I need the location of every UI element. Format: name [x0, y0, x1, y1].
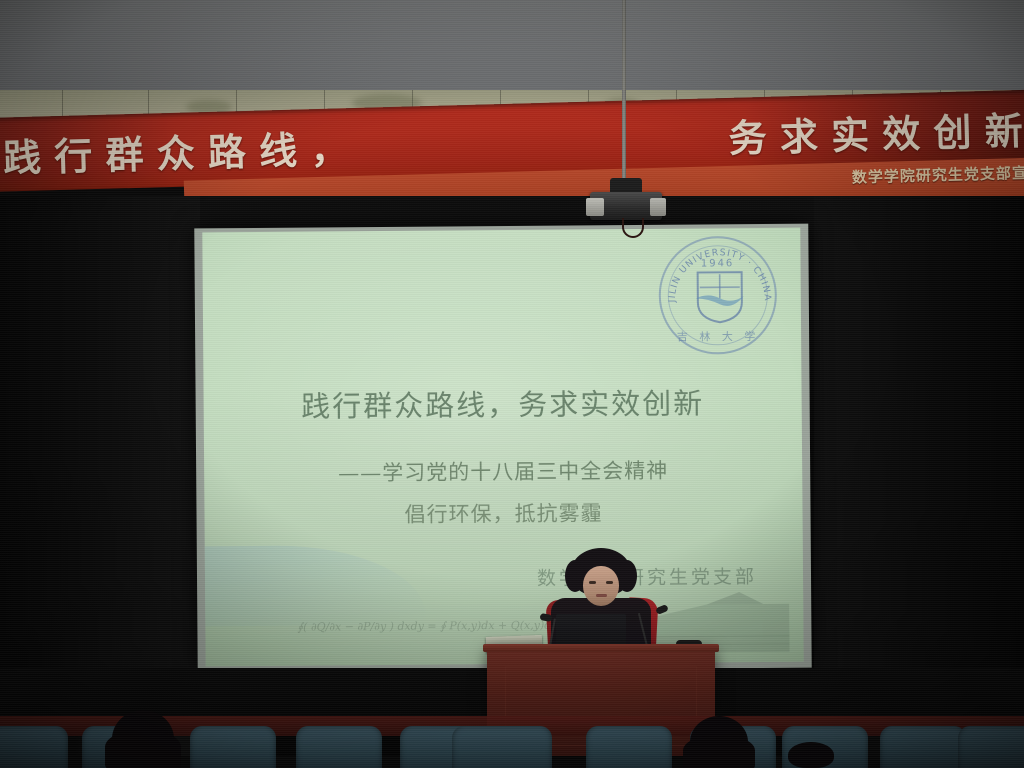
seat[interactable]: [190, 726, 276, 768]
slide-formula: ∮( ∂Q/∂x − ∂P/∂y ) dxdy = ∮ P(x,y)dx + Q…: [297, 619, 557, 634]
slide-title: 践行群众路线，务求实效创新: [203, 380, 801, 427]
presenter-mouth: [596, 594, 607, 597]
seal-arc-text: JILIN UNIVERSITY · CHINA: [660, 238, 779, 357]
projector-lens-right: [650, 198, 666, 216]
auditorium-scene: 践 行 群 众 路 线 ， 务 求 实 效 创 新 数学学院研究生党支部宣 JI…: [0, 0, 1024, 768]
audience-head: [690, 716, 748, 768]
lectern-top-edge: [483, 644, 719, 652]
seal-shield-icon: [694, 268, 746, 324]
projector-lens-left: [586, 198, 604, 216]
slide-hill-graphic: [202, 545, 425, 627]
projector-mount-pole: [622, 0, 626, 182]
svg-text:JILIN UNIVERSITY · CHINA: JILIN UNIVERSITY · CHINA: [666, 247, 773, 304]
seal-chinese-name: 吉 林 大 学: [661, 328, 775, 345]
seat[interactable]: [880, 726, 966, 768]
seal-year: 1946: [661, 258, 775, 270]
seat[interactable]: [452, 726, 552, 768]
seat[interactable]: [586, 726, 672, 768]
projector-icon: [584, 178, 668, 222]
slide-subtitle-1: ——学习党的十八届三中全会精神: [204, 454, 802, 489]
slide-subtitle-2: 倡行环保，抵抗雾霾: [204, 496, 802, 531]
presenter-eye-right: [606, 581, 613, 584]
seal-arc-label: JILIN UNIVERSITY · CHINA: [666, 247, 773, 304]
seat[interactable]: [296, 726, 382, 768]
jilin-university-seal-icon: JILIN UNIVERSITY · CHINA 1946 吉 林 大 学: [658, 236, 777, 355]
seat[interactable]: [0, 726, 68, 768]
projection-screen: JILIN UNIVERSITY · CHINA 1946 吉 林 大 学 践行…: [202, 228, 803, 667]
audience-head: [112, 710, 174, 768]
banner-text-left: 践 行 群 众 路 线 ，: [2, 118, 349, 182]
seat[interactable]: [958, 726, 1024, 768]
audience-head: [788, 742, 834, 768]
presenter-face: [583, 566, 619, 606]
ceiling-wall: [0, 0, 1024, 95]
presenter-eye-left: [589, 581, 596, 584]
projection-screen-frame: JILIN UNIVERSITY · CHINA 1946 吉 林 大 学 践行…: [194, 224, 811, 673]
banner-text-right: 务 求 实 效 创 新: [728, 99, 1024, 162]
